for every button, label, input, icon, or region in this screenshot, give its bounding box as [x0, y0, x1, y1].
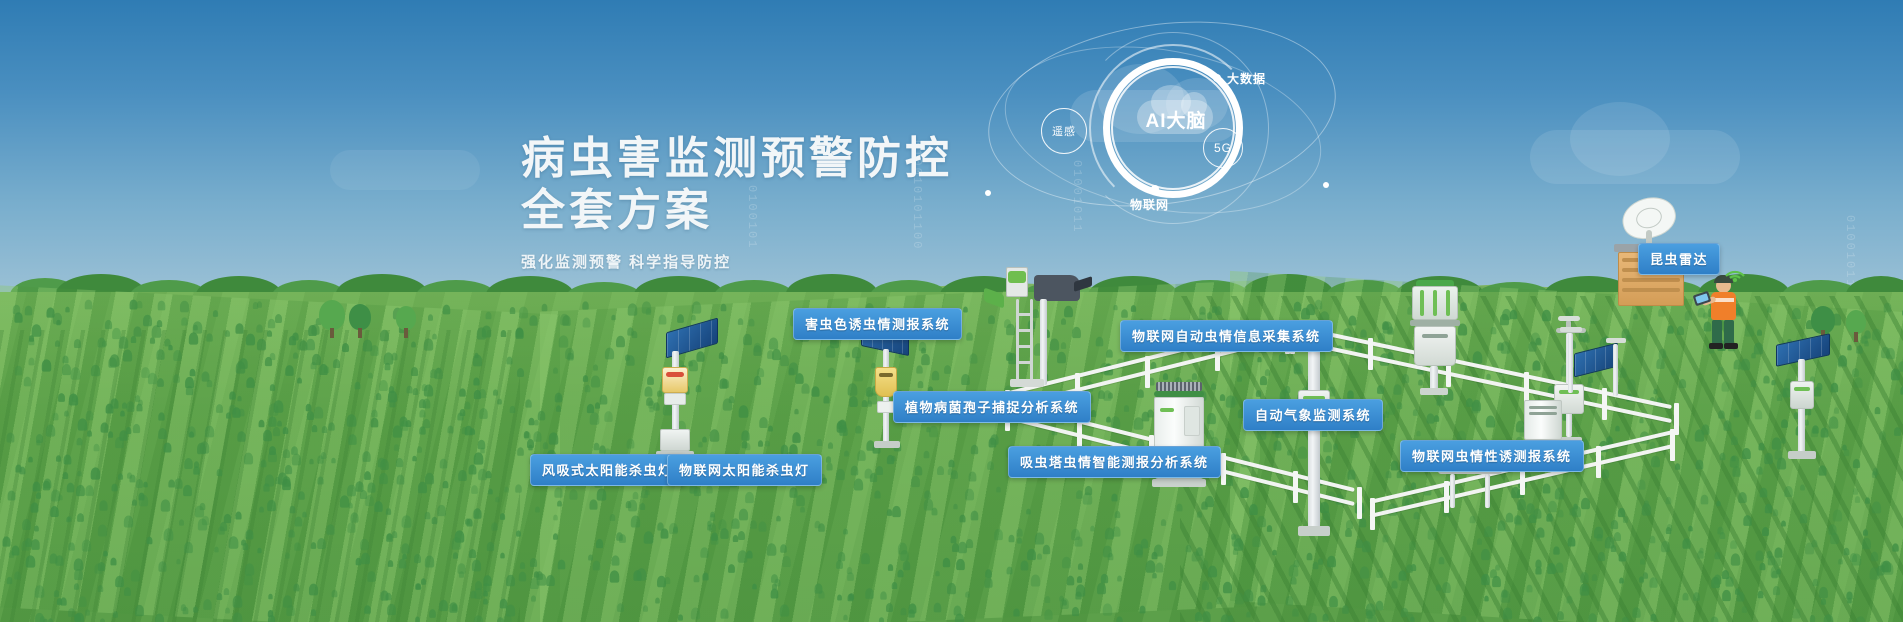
field-fence [1370, 480, 1710, 560]
tree [395, 302, 417, 338]
label-suction-tower-forecast[interactable]: 吸虫塔虫情智能测报分析系统 [1008, 446, 1221, 478]
node-dot-iot [1151, 185, 1159, 193]
tree [1845, 306, 1867, 342]
hero-subtitle: 强化监测预警 科学指导防控 [521, 251, 953, 272]
device-color-lure-forecast[interactable] [1000, 265, 1080, 385]
label-iot-solar-lamp[interactable]: 物联网太阳能杀虫灯 [667, 454, 822, 486]
device-pole-sensor[interactable] [1556, 325, 1586, 395]
tree [318, 296, 346, 338]
node-label-iot: 物联网 [1130, 196, 1169, 213]
tree [348, 300, 372, 338]
cloud-shape [330, 150, 480, 190]
label-spore-capture-analysis[interactable]: 植物病菌孢子捕捉分析系统 [893, 391, 1091, 423]
label-color-lure-forecast[interactable]: 害虫色诱虫情测报系统 [793, 308, 962, 340]
ai-brain-diagram: AI大脑 遥感 5G 大数据 物联网 [985, 30, 1365, 230]
hero-title-line-1: 病虫害监测预警防控 [521, 133, 953, 185]
device-wind-suction-solar-lamp[interactable] [650, 325, 720, 455]
node-5g[interactable]: 5G [1203, 128, 1243, 168]
wifi-signal-icon [1722, 262, 1748, 287]
device-iot-auto-pest-collect[interactable] [1400, 280, 1470, 395]
node-dot-right [1323, 182, 1329, 188]
hero-title-line-2: 全套方案 [521, 185, 953, 237]
hero-text-block: 病虫害监测预警防控 全套方案 强化监测预警 科学指导防控 [521, 133, 953, 272]
label-wind-suction-solar-lamp[interactable]: 风吸式太阳能杀虫灯 [530, 454, 685, 486]
device-iot-pheromone-forecast[interactable] [1768, 335, 1838, 460]
device-iot-solar-lamp[interactable] [855, 325, 921, 450]
label-insect-radar[interactable]: 昆虫雷达 [1638, 243, 1720, 275]
field-worker [1700, 278, 1746, 350]
node-dot-big-data [1213, 74, 1221, 82]
label-auto-weather-monitor[interactable]: 自动气象监测系统 [1243, 399, 1383, 431]
plowed-rows-left [0, 330, 520, 622]
device-pole-sensor[interactable] [1604, 338, 1628, 398]
node-remote-sensing[interactable]: 遥感 [1041, 108, 1087, 154]
label-iot-auto-pest-collect[interactable]: 物联网自动虫情信息采集系统 [1120, 320, 1333, 352]
label-iot-pheromone-forecast[interactable]: 物联网虫情性诱测报系统 [1400, 440, 1584, 472]
node-label-big-data: 大数据 [1227, 70, 1266, 87]
hero-title: 病虫害监测预警防控 全套方案 [521, 133, 953, 237]
device-suction-tower-forecast[interactable] [1290, 330, 1338, 545]
node-dot-left [985, 190, 991, 196]
illustration-canvas: 010010101100 0100101 01001011 0100101101… [0, 0, 1903, 622]
ai-brain-label: AI大脑 [1128, 106, 1224, 133]
cloud-shape [1530, 130, 1740, 184]
